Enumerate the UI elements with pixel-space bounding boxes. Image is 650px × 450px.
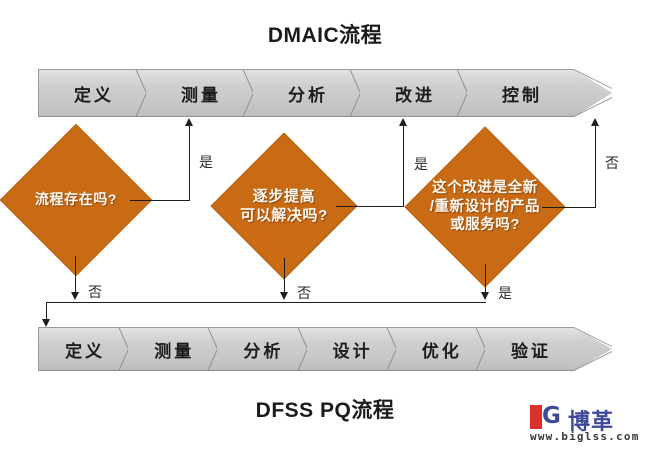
- arrow-up-icon: [591, 118, 599, 126]
- edge-d1-no-vertical: [75, 256, 76, 294]
- dfss-step-6[interactable]: 验证: [485, 327, 574, 371]
- dfss-arrow-head-icon: [574, 327, 612, 371]
- chevron-right-icon: [107, 328, 129, 370]
- chevron-right-icon: [286, 328, 308, 370]
- dfss-step-3-label: 分析: [240, 337, 283, 362]
- dfss-step-1[interactable]: 定义: [38, 327, 128, 371]
- arrow-up-icon: [399, 118, 407, 126]
- chevron-right-icon: [464, 328, 486, 370]
- arrow-down-icon: [481, 292, 489, 300]
- arrow-down-icon: [42, 319, 50, 327]
- chevron-right-icon: [375, 328, 397, 370]
- edge-d2-no-vertical: [284, 258, 285, 294]
- chevron-right-icon: [232, 70, 254, 116]
- edge-d1-yes-vertical: [189, 126, 190, 201]
- chevron-right-icon: [125, 70, 147, 116]
- dfss-step-6-label: 验证: [508, 337, 551, 362]
- edge-collector-bus: [46, 302, 486, 303]
- dmaic-step-5-label: 控制: [499, 81, 542, 106]
- biglss-logo-icon: G: [530, 405, 564, 429]
- page-title-top: DMAIC流程: [0, 19, 650, 49]
- edge-d1-yes-horizontal: [130, 200, 190, 201]
- dfss-step-5[interactable]: 优化: [396, 327, 485, 371]
- edge-label-d2-yes: 是: [414, 154, 428, 174]
- dmaic-step-3-label: 分析: [285, 81, 328, 106]
- dmaic-step-5[interactable]: 控制: [467, 69, 574, 117]
- dmaic-process-bar: 定义 测量 分析 改进 控制: [38, 69, 612, 117]
- edge-label-d2-no: 否: [297, 283, 311, 303]
- edge-label-d1-no: 否: [88, 282, 102, 302]
- dfss-process-bar: 定义 测量 分析 设计 优化 验证: [38, 327, 612, 371]
- dmaic-step-1[interactable]: 定义: [38, 69, 146, 117]
- arrow-down-icon: [280, 292, 288, 300]
- edge-d3-no-horizontal: [542, 207, 596, 208]
- dmaic-step-2[interactable]: 测量: [146, 69, 253, 117]
- edge-label-d1-yes: 是: [199, 152, 213, 172]
- dfss-step-1-label: 定义: [62, 337, 105, 362]
- dmaic-step-4[interactable]: 改进: [360, 69, 467, 117]
- chevron-right-icon: [196, 328, 218, 370]
- dfss-step-4-label: 设计: [330, 337, 373, 362]
- dmaic-step-2-label: 测量: [178, 81, 221, 106]
- dfss-step-2-label: 测量: [151, 337, 194, 362]
- dfss-step-2[interactable]: 测量: [128, 327, 217, 371]
- edge-d3-no-vertical: [595, 126, 596, 208]
- dmaic-arrow-head-icon: [574, 69, 612, 117]
- dmaic-step-3[interactable]: 分析: [253, 69, 360, 117]
- edge-d3-yes-vertical: [485, 264, 486, 294]
- edge-label-d3-yes: 是: [498, 283, 512, 303]
- chevron-right-icon: [339, 70, 361, 116]
- dfss-step-4[interactable]: 设计: [307, 327, 396, 371]
- dmaic-step-1-label: 定义: [71, 81, 114, 106]
- arrow-up-icon: [185, 118, 193, 126]
- edge-label-d3-no: 否: [605, 153, 619, 173]
- dmaic-step-4-label: 改进: [392, 81, 435, 106]
- dfss-step-5-label: 优化: [419, 337, 462, 362]
- diagram-canvas: DMAIC流程 定义 测量 分析 改进 控制 流程存在吗? 是: [0, 0, 650, 450]
- arrow-down-icon: [71, 292, 79, 300]
- chevron-right-icon: [446, 70, 468, 116]
- brand-url: www.biglss.com: [530, 430, 640, 443]
- brand-logo[interactable]: G 博革 www.biglss.com: [530, 404, 642, 444]
- dfss-step-3[interactable]: 分析: [217, 327, 306, 371]
